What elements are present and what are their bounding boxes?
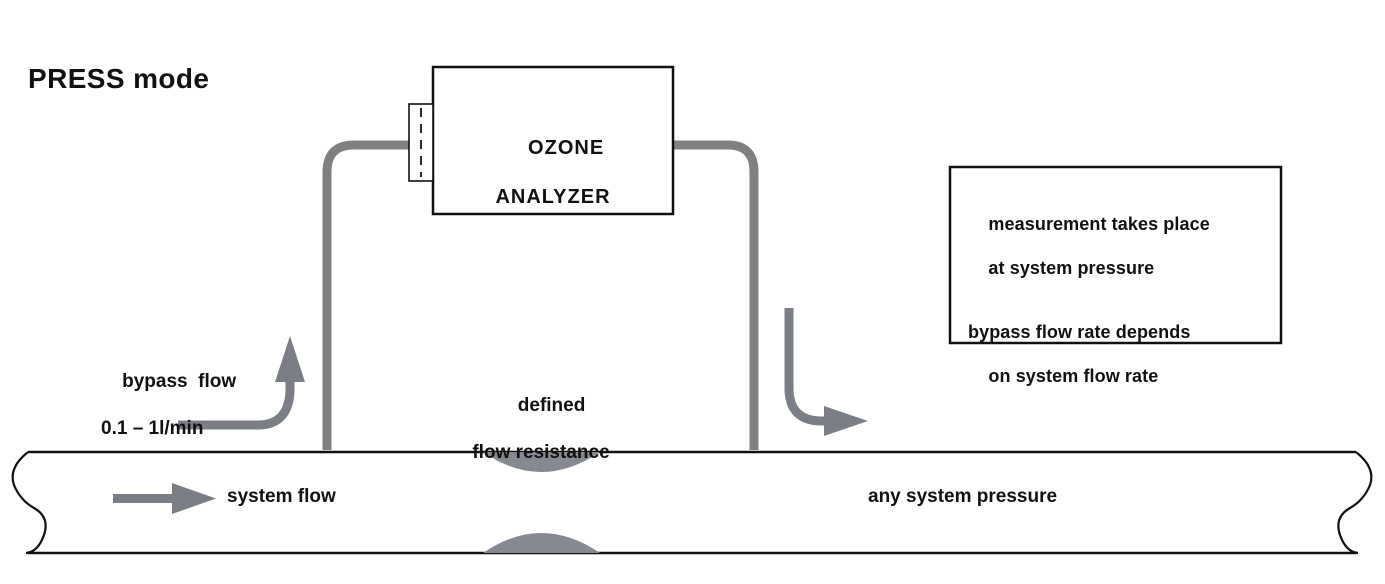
flow-restriction-lower-icon — [483, 533, 600, 553]
analyzer-label-line2: ANALYZER — [433, 185, 673, 209]
info-paragraph2-line2: on system flow rate — [988, 366, 1158, 386]
flow-resistance-line1: defined — [518, 395, 586, 416]
press-mode-diagram: PRESS mode OZONE ANALYZER measurement ta… — [0, 0, 1385, 584]
bypass-flow-label: bypass flow 0.1 – 1l/min — [101, 347, 236, 486]
pipe-break-symbol-right-icon — [1338, 452, 1371, 553]
info-callout-text: measurement takes place at system pressu… — [968, 192, 1268, 410]
flow-resistance-label: defined flow resistance — [428, 371, 654, 510]
system-flow-arrow-icon — [113, 483, 216, 514]
system-flow-label: system flow — [227, 485, 336, 508]
ozone-analyzer-label: OZONE ANALYZER — [433, 112, 673, 258]
flow-resistance-line2: flow resistance — [428, 441, 654, 464]
info-paragraph2-line1: bypass flow rate depends — [968, 322, 1268, 344]
exhaust-flow-arrow-icon — [789, 308, 868, 436]
info-paragraph1-line1: measurement takes place — [988, 214, 1209, 234]
sample-return-tube — [673, 145, 754, 450]
sample-inlet-tube — [327, 145, 409, 450]
bypass-flow-line2: 0.1 – 1l/min — [101, 417, 236, 440]
bypass-flow-line1: bypass flow — [122, 371, 236, 392]
system-pressure-label: any system pressure — [868, 485, 1057, 508]
analyzer-label-line1: OZONE — [528, 137, 604, 159]
info-paragraph1-line2: at system pressure — [988, 258, 1154, 278]
pipe-break-symbol-left-icon — [13, 452, 46, 553]
page-title: PRESS mode — [28, 62, 209, 96]
